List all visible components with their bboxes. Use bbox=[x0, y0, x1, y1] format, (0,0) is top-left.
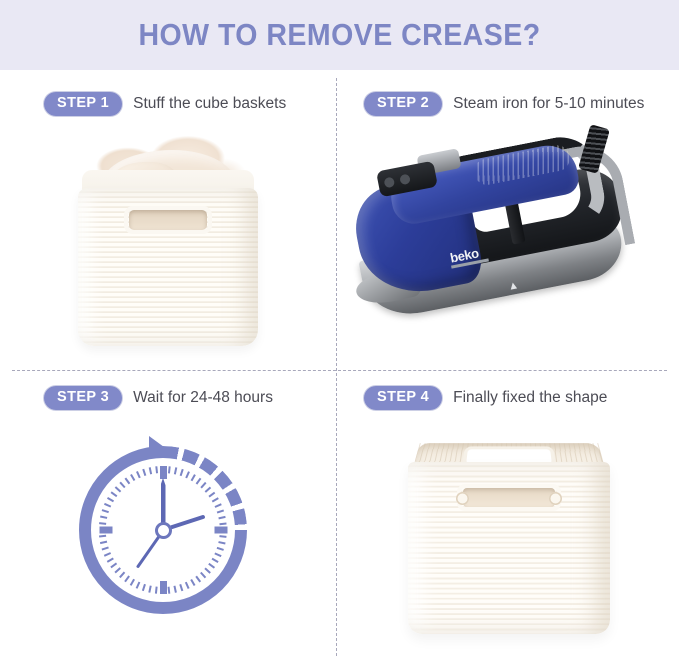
page-title: HOW TO REMOVE CREASE? bbox=[138, 17, 540, 53]
clock-tick-minor bbox=[104, 552, 111, 556]
clock-tick-major bbox=[99, 527, 112, 534]
vertical-divider bbox=[336, 78, 337, 656]
clock-tick-minor bbox=[107, 497, 114, 502]
clock-tick-major bbox=[214, 527, 227, 534]
clock-tick-minor bbox=[149, 586, 152, 593]
clock-tick-minor bbox=[191, 474, 196, 481]
clock-tick-minor bbox=[130, 579, 135, 586]
step-1-illustration bbox=[0, 122, 336, 370]
clock-tick-minor bbox=[102, 547, 109, 551]
step-3-label: Wait for 24-48 hours bbox=[133, 389, 273, 407]
step-3-badge: STEP 3 bbox=[44, 386, 122, 410]
step-1-header: STEP 1 Stuff the cube baskets bbox=[0, 92, 336, 116]
clock-tick-minor bbox=[215, 503, 222, 507]
step-4-badge: STEP 4 bbox=[364, 386, 442, 410]
clock-tick-minor bbox=[100, 541, 107, 544]
clock-tick-minor bbox=[180, 469, 184, 476]
clock-tick-minor bbox=[174, 467, 177, 474]
clock-tick-minor bbox=[120, 482, 126, 488]
clock-tick-minor bbox=[111, 563, 118, 568]
horizontal-divider bbox=[12, 370, 667, 371]
handle-stitch-right bbox=[549, 492, 562, 505]
clock-tick-minor bbox=[185, 471, 189, 478]
clock-tick-minor bbox=[212, 497, 219, 502]
clock-tick-minor bbox=[156, 587, 158, 594]
step-1-badge: STEP 1 bbox=[44, 92, 122, 116]
clock-tick-major bbox=[160, 466, 167, 479]
step-4-illustration bbox=[338, 416, 679, 663]
clock-tick-minor bbox=[205, 568, 211, 574]
clock-tick-minor bbox=[125, 576, 130, 583]
clock-tick-minor bbox=[136, 582, 140, 589]
clock-tick-minor bbox=[142, 469, 146, 476]
clock-tick-minor bbox=[149, 467, 152, 474]
clock-tick-minor bbox=[120, 572, 126, 578]
steam-iron-icon: beko ▲ bbox=[356, 130, 656, 330]
step-panel-1: STEP 1 Stuff the cube baskets bbox=[0, 78, 336, 370]
clock-tick-minor bbox=[156, 466, 158, 473]
clock-tick-minor bbox=[168, 466, 170, 473]
step-panel-2: STEP 2 Steam iron for 5-10 minutes beko bbox=[338, 78, 679, 370]
step-panel-4: STEP 4 Finally fixed the shape bbox=[338, 372, 679, 663]
stuffed-basket-icon bbox=[68, 136, 268, 346]
clock-tick-minor bbox=[185, 582, 189, 589]
infographic-board: HOW TO REMOVE CREASE? STEP 1 Stuff the c… bbox=[0, 0, 679, 663]
step-2-illustration: beko ▲ bbox=[338, 122, 679, 370]
step-4-header: STEP 4 Finally fixed the shape bbox=[338, 386, 679, 410]
warning-triangle-icon: ▲ bbox=[507, 279, 520, 293]
clock-tick-minor bbox=[136, 471, 140, 478]
clock-tick-minor bbox=[217, 547, 224, 551]
clock-icon bbox=[75, 428, 261, 624]
step-panel-3: STEP 3 Wait for 24-48 hours bbox=[0, 372, 336, 663]
step-4-label: Finally fixed the shape bbox=[453, 389, 607, 407]
clock-tick-minor bbox=[201, 482, 207, 488]
clock-tick-minor bbox=[115, 487, 121, 493]
clock-tick-minor bbox=[219, 516, 226, 519]
clock-tick-minor bbox=[212, 558, 219, 563]
clock-tick-minor bbox=[215, 552, 222, 556]
clock-tick-minor bbox=[209, 492, 216, 497]
clock-tick-minor bbox=[209, 563, 216, 568]
clock-tick-minor bbox=[205, 487, 211, 493]
clock-tick-minor bbox=[104, 503, 111, 507]
step-2-badge: STEP 2 bbox=[364, 92, 442, 116]
step-3-illustration bbox=[0, 416, 336, 663]
header-band: HOW TO REMOVE CREASE? bbox=[0, 0, 679, 70]
clock-tick-minor bbox=[191, 579, 196, 586]
clock-tick-minor bbox=[99, 535, 106, 537]
clock-tick-minor bbox=[174, 586, 177, 593]
clock-tick-minor bbox=[130, 474, 135, 481]
clock-tick-minor bbox=[201, 572, 207, 578]
clock-tick-minor bbox=[217, 509, 224, 513]
cube-basket-icon bbox=[402, 440, 616, 640]
step-2-header: STEP 2 Steam iron for 5-10 minutes bbox=[338, 92, 679, 116]
step-2-label: Steam iron for 5-10 minutes bbox=[453, 95, 644, 113]
step-3-header: STEP 3 Wait for 24-48 hours bbox=[0, 386, 336, 410]
clock-tick-minor bbox=[125, 478, 130, 485]
clock-tick-minor bbox=[196, 478, 201, 485]
clock-face bbox=[99, 466, 227, 594]
clock-tick-minor bbox=[219, 541, 226, 544]
clock-arrow-head-icon bbox=[149, 436, 164, 458]
basket-front-handle-cutout bbox=[463, 488, 555, 507]
clock-tick-minor bbox=[115, 568, 121, 574]
clock-tick-minor bbox=[99, 523, 106, 525]
clock-tick-major bbox=[160, 581, 167, 594]
clock-center-cap bbox=[155, 522, 172, 539]
basket-handle-cutout bbox=[129, 210, 207, 230]
step-1-label: Stuff the cube baskets bbox=[133, 95, 286, 113]
clock-tick-minor bbox=[220, 535, 227, 537]
clock-tick-minor bbox=[142, 584, 146, 591]
clock-tick-minor bbox=[107, 558, 114, 563]
clock-tick-minor bbox=[102, 509, 109, 513]
clock-tick-minor bbox=[168, 587, 170, 594]
clock-tick-minor bbox=[100, 516, 107, 519]
clock-tick-minor bbox=[220, 523, 227, 525]
clock-tick-minor bbox=[111, 492, 118, 497]
handle-stitch-left bbox=[456, 492, 469, 505]
clock-tick-minor bbox=[180, 584, 184, 591]
clock-tick-minor bbox=[196, 576, 201, 583]
